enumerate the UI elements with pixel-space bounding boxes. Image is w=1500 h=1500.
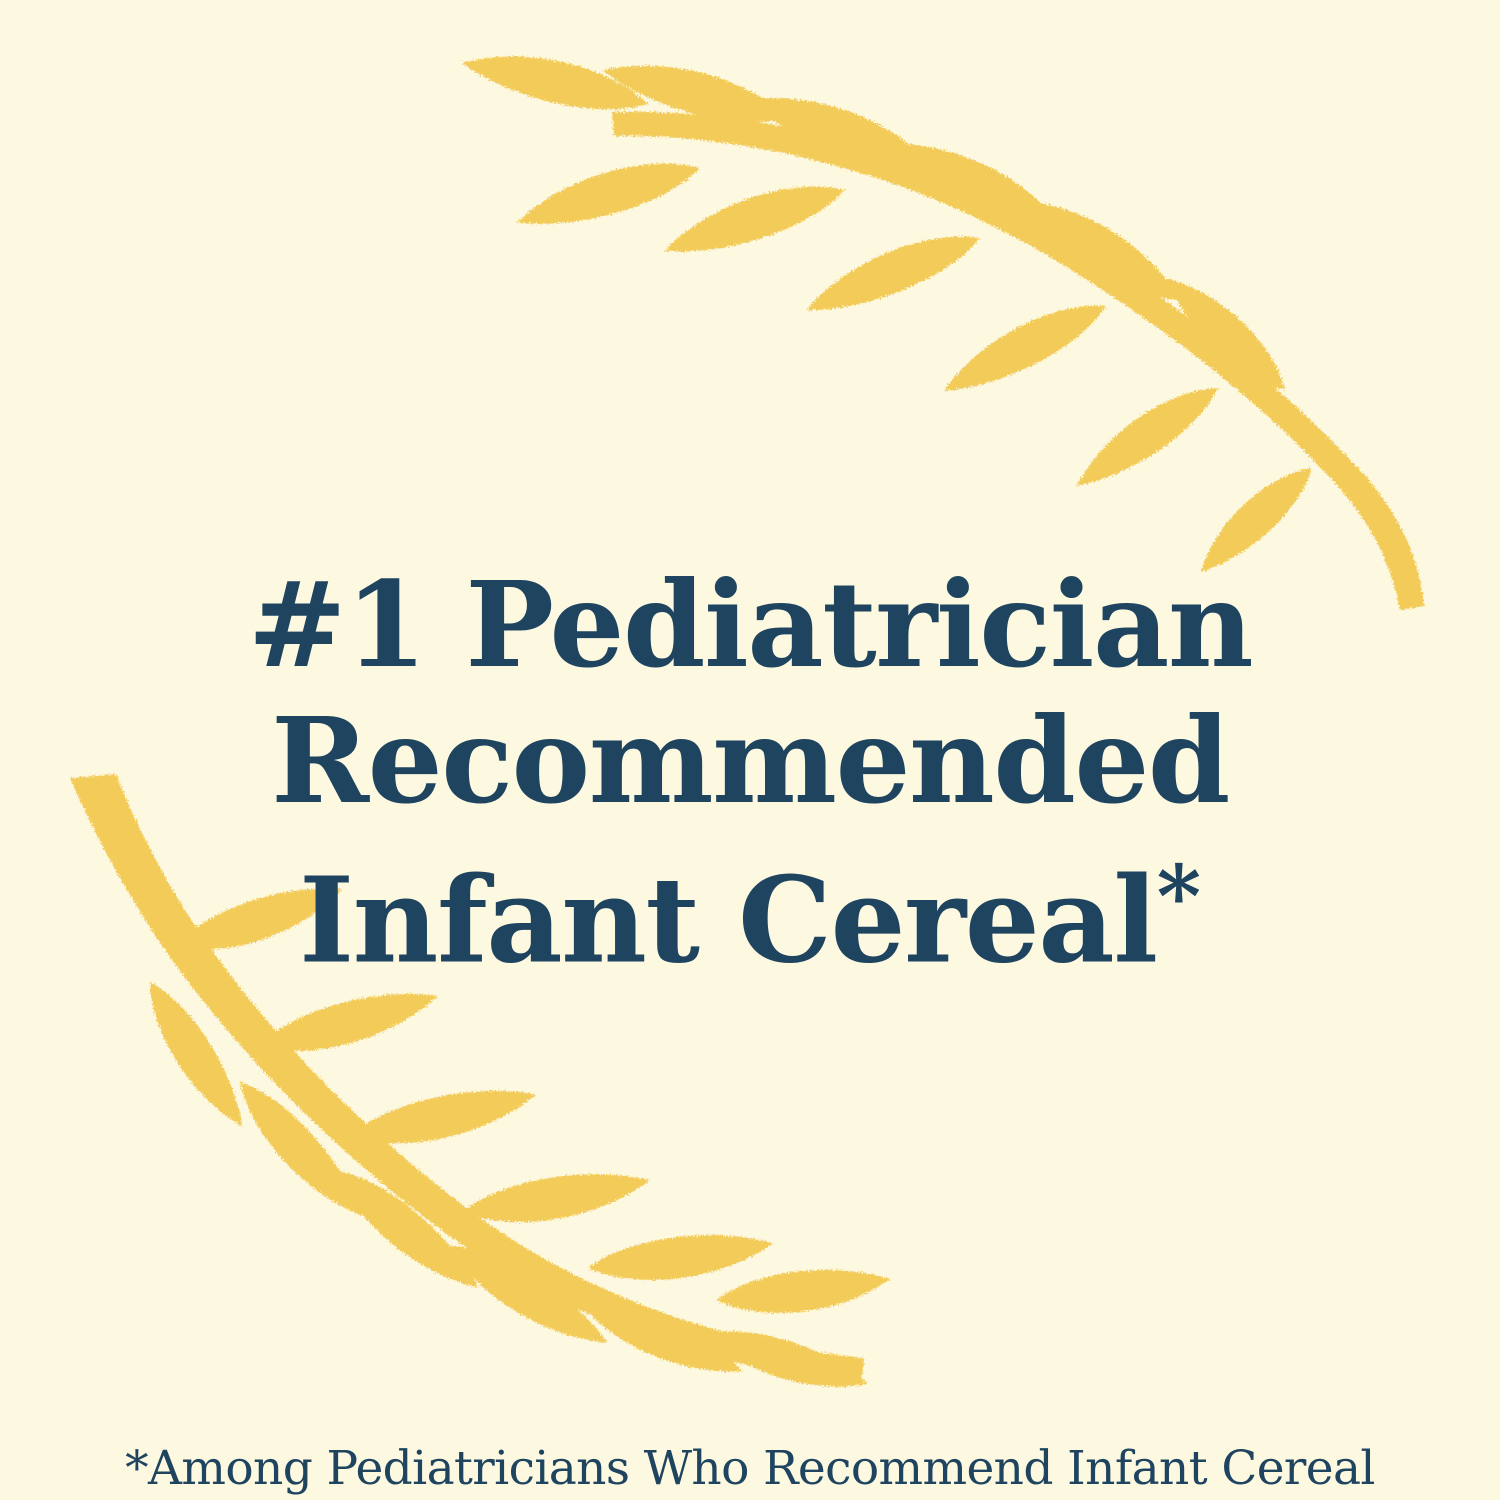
- wheat-leaf-lower-4: [932, 292, 1116, 401]
- asterisk-marker: *: [1157, 847, 1201, 947]
- headline-line-2: Recommended: [0, 693, 1500, 829]
- wheat-leaf-bl-upper-5: [587, 1231, 775, 1283]
- wheat-leaf-upper-3: [741, 72, 931, 184]
- wheat-leaf-upper-6: [1157, 259, 1295, 406]
- wheat-leaf-bl-lower-5: [571, 1278, 748, 1397]
- wheat-leaf-upper-5: [1021, 178, 1187, 320]
- footnote-disclaimer: *Among Pediatricians Who Recommend Infan…: [0, 1439, 1500, 1499]
- headline-line-1: #1 Pediatrician: [0, 557, 1500, 693]
- wheat-leaf-bl-upper-2: [253, 984, 444, 1061]
- headline-line-3: Infant Cereal*: [0, 829, 1500, 989]
- wheat-leaf-bl-lower-4: [441, 1225, 614, 1366]
- wheat-leaf-lower-2: [657, 175, 852, 263]
- wheat-stalk-top-right: [458, 33, 1424, 610]
- wheat-leaf-bl-lower-3: [326, 1152, 487, 1309]
- wheat-leaf-lower-5: [1063, 375, 1231, 495]
- wheat-stem-top: [612, 112, 1424, 610]
- wheat-leaf-bl-upper-3: [346, 1083, 540, 1152]
- wheat-leaf-upper-4: [884, 118, 1066, 247]
- wheat-leaf-bl-lower-6: [703, 1311, 873, 1410]
- wheat-leaf-upper-2: [599, 41, 793, 143]
- wheat-leaf-bl-lower-1: [137, 970, 252, 1139]
- wheat-leaf-bl-lower-2: [228, 1067, 370, 1234]
- wheat-leaf-upper-1: [458, 33, 652, 130]
- headline-line-3-text: Infant Cereal: [299, 851, 1157, 990]
- wheat-leaf-lower-1: [511, 153, 706, 234]
- wheat-leaf-bl-upper-4: [460, 1168, 653, 1227]
- wheat-leaf-lower-3: [796, 223, 988, 321]
- poster-canvas: #1 Pediatrician Recommended Infant Cerea…: [0, 0, 1500, 1500]
- wheat-leaf-bl-upper-6: [715, 1268, 891, 1316]
- headline: #1 Pediatrician Recommended Infant Cerea…: [0, 557, 1500, 989]
